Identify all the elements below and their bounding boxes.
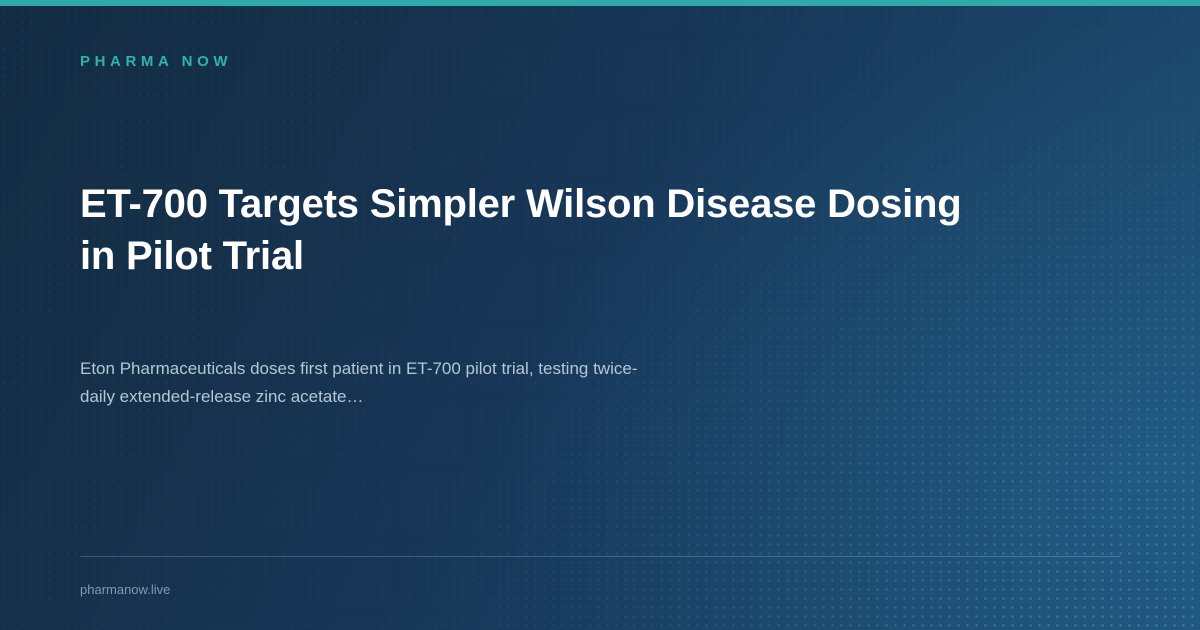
card-content: PHARMA NOW ET-700 Targets Simpler Wilson… <box>0 0 1200 630</box>
brand-kicker: PHARMA NOW <box>80 51 232 73</box>
social-share-card: PHARMA NOW ET-700 Targets Simpler Wilson… <box>0 0 1200 630</box>
footer-divider <box>80 556 1120 557</box>
headline: ET-700 Targets Simpler Wilson Disease Do… <box>80 178 980 282</box>
subtitle: Eton Pharmaceuticals doses first patient… <box>80 355 640 411</box>
footer-site-url: pharmanow.live <box>80 581 170 599</box>
